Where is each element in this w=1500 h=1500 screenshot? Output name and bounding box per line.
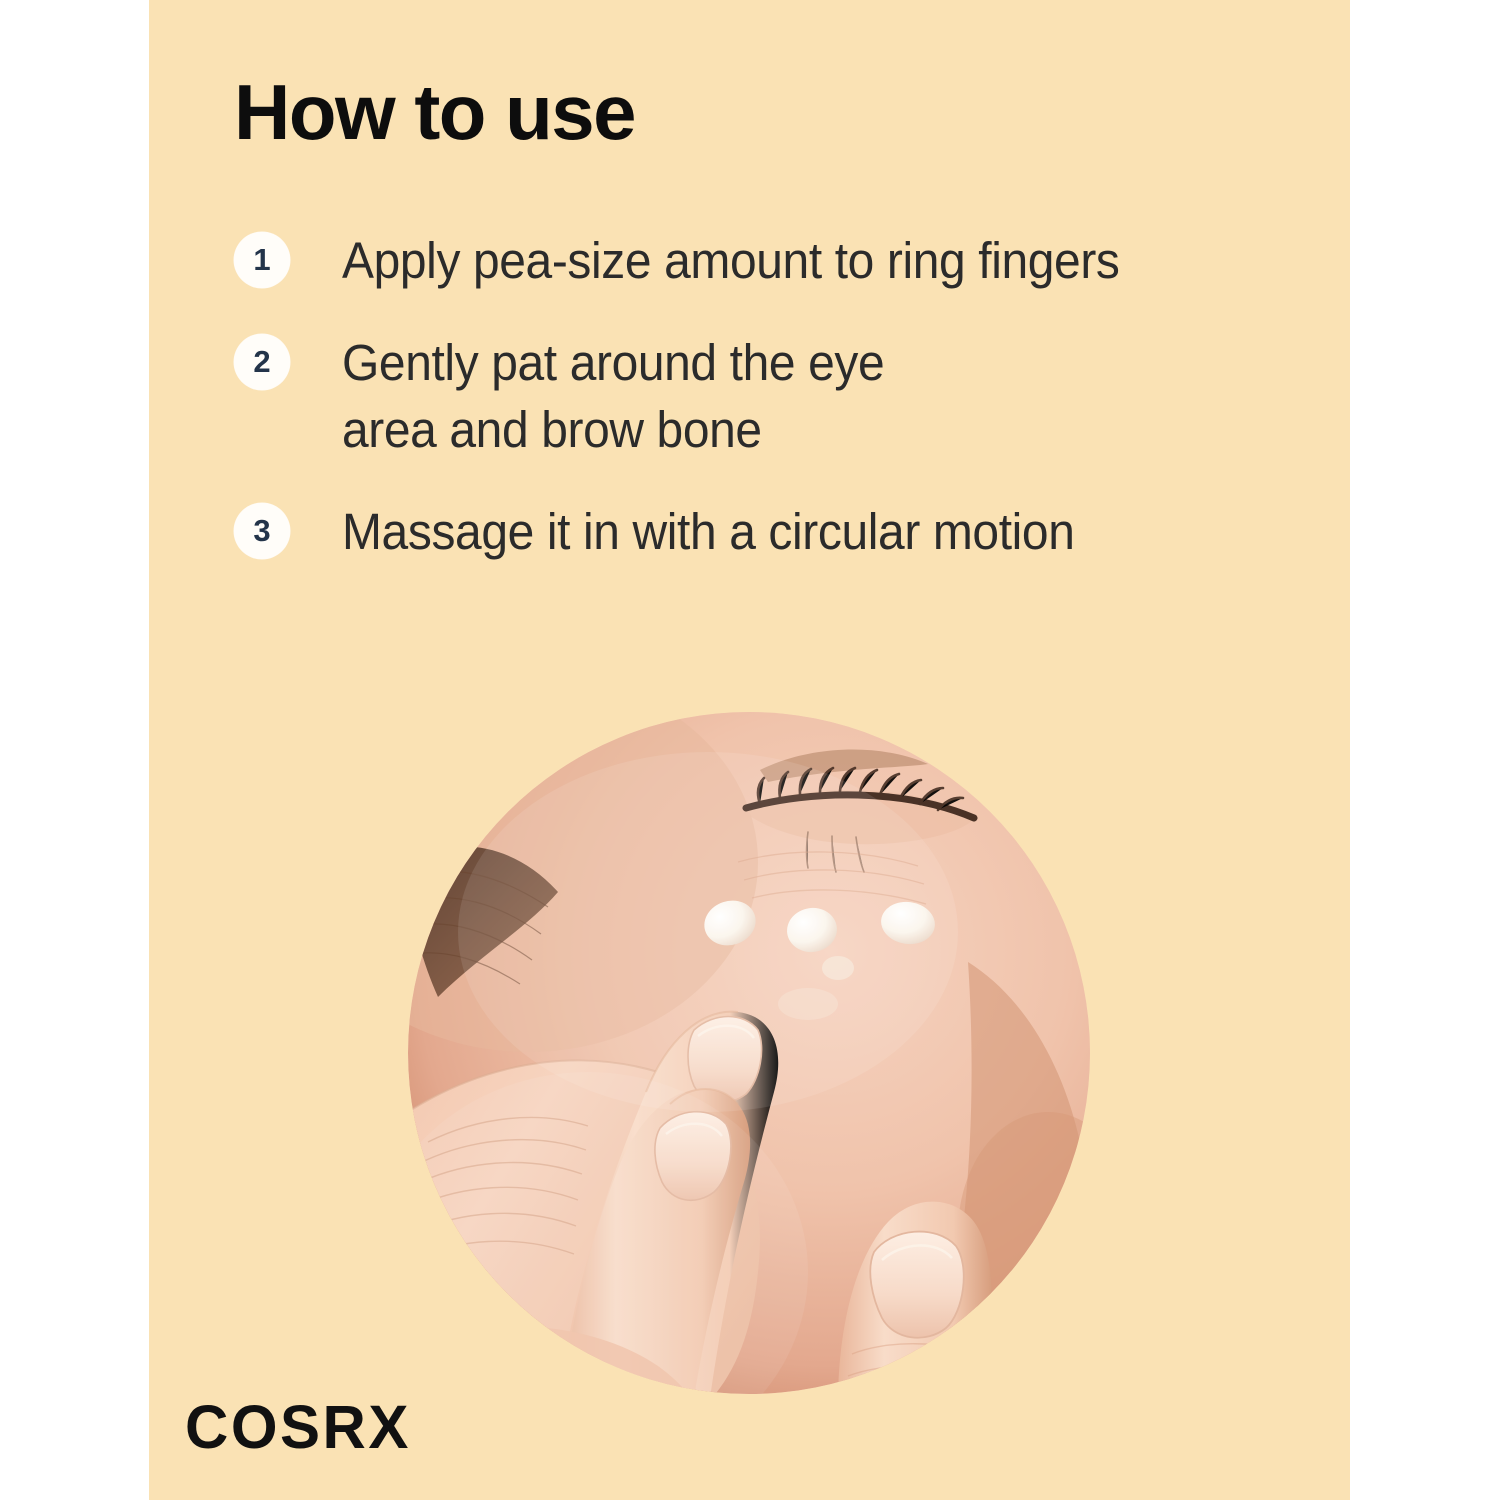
how-to-use-card: How to use 1 Apply pea-size amount to ri… — [0, 0, 1500, 1500]
brand-logo: COSRX — [185, 1392, 411, 1462]
list-item: 3 Massage it in with a circular motion — [234, 499, 1314, 565]
page-title: How to use — [234, 72, 635, 154]
fingernail — [870, 1232, 963, 1338]
how-to-use-photo — [408, 712, 1090, 1394]
list-item: 1 Apply pea-size amount to ring fingers — [234, 228, 1314, 294]
steps-list: 1 Apply pea-size amount to ring fingers … — [234, 228, 1314, 601]
face-application-illustration — [408, 712, 1090, 1394]
step-text: Massage it in with a circular motion — [342, 499, 1256, 565]
step-text: Gently pat around the eye area and brow … — [342, 330, 1256, 463]
step-number-badge: 3 — [234, 503, 290, 559]
step-number-badge: 1 — [234, 232, 290, 288]
step-text: Apply pea-size amount to ring fingers — [342, 228, 1256, 294]
step-number-badge: 2 — [234, 334, 290, 390]
list-item: 2 Gently pat around the eye area and bro… — [234, 330, 1314, 463]
